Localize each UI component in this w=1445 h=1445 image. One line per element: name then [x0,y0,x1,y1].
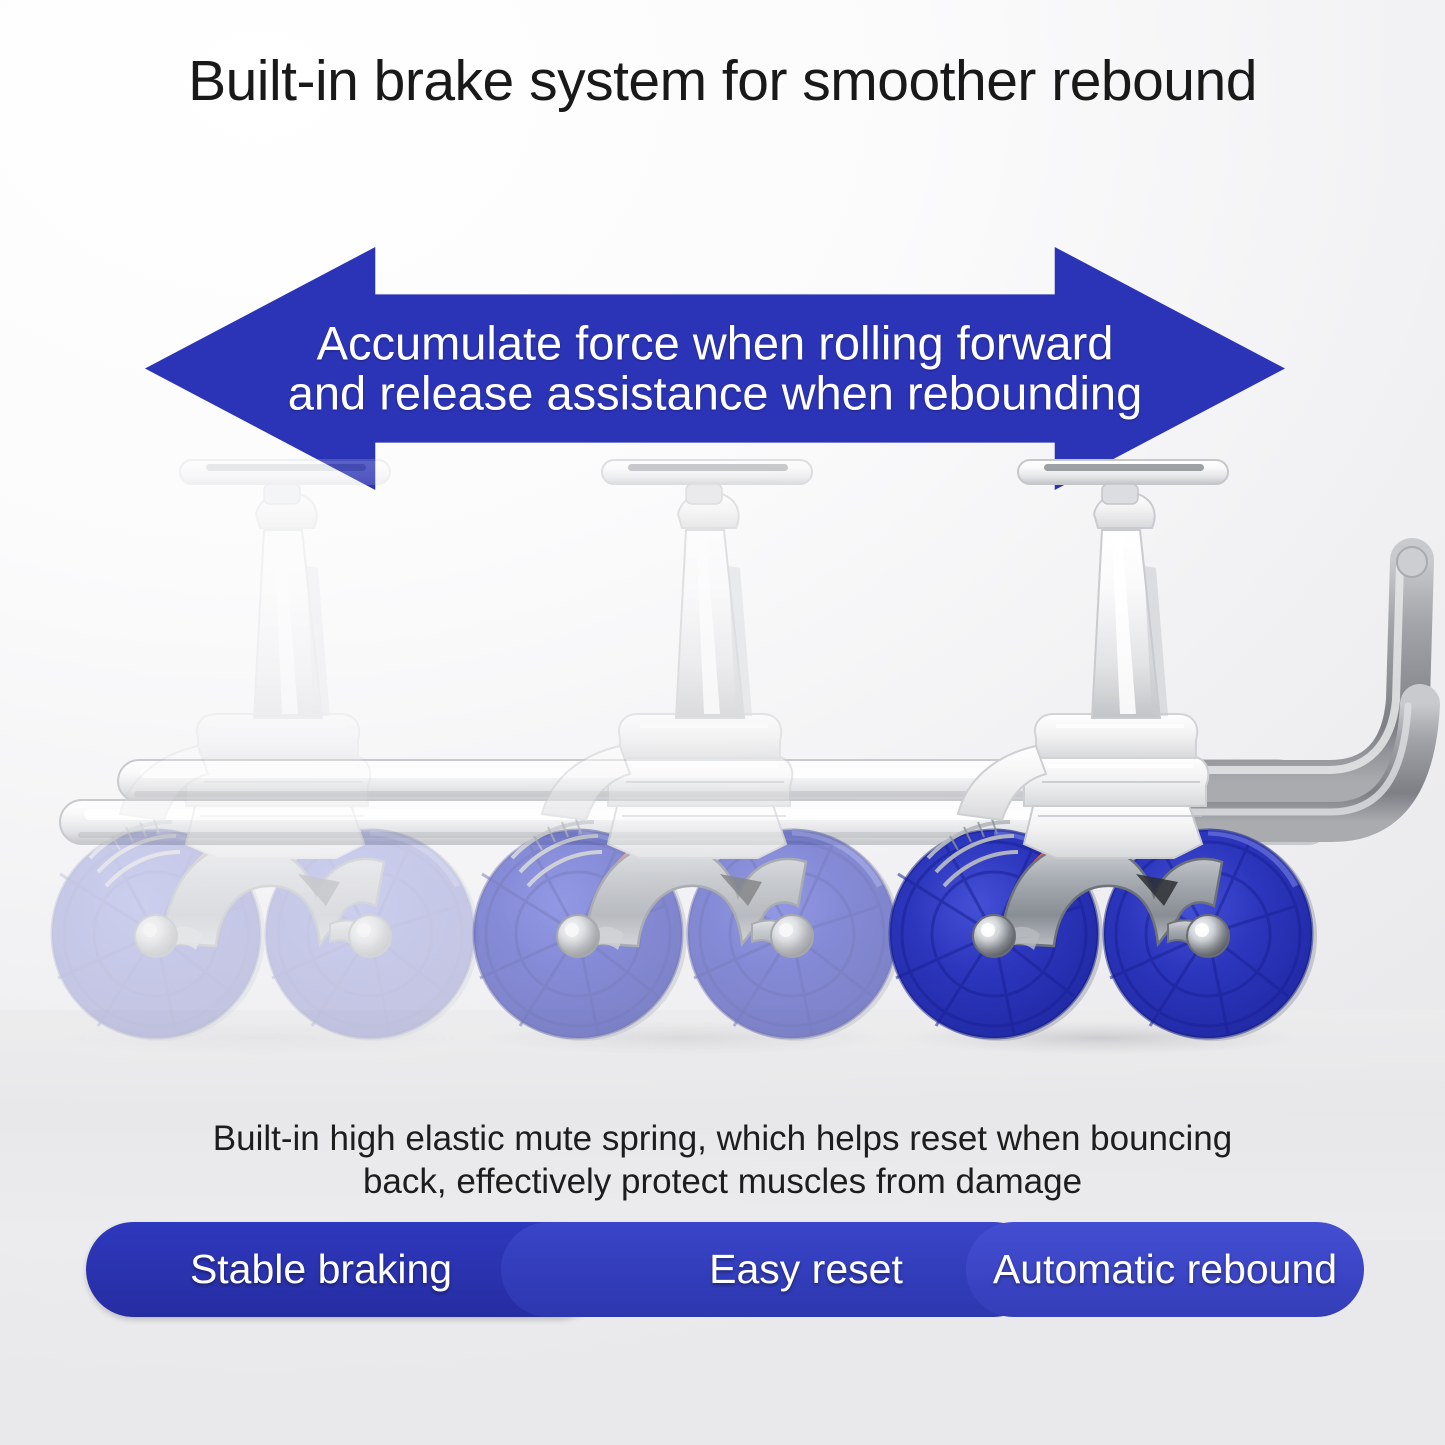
roller-position-3-solid [890,460,1317,1055]
feature-pill-label: Automatic rebound [993,1246,1337,1293]
product-feature-image: Built-in brake system for smoother rebou… [0,0,1445,1445]
handlebar-tube [1140,547,1427,822]
feature-pill-label: Easy reset [709,1246,903,1293]
arrow-caption: Accumulate force when rolling forward an… [145,318,1285,420]
feature-pill-group: Stable braking Easy reset Automatic rebo… [86,1222,1364,1317]
roller-position-2-ghost [474,460,901,1055]
feature-pill-automatic-rebound[interactable]: Automatic rebound [966,1222,1364,1317]
frame-bar-lower [60,800,1330,844]
arrow-caption-line2: and release assistance when rebounding [205,369,1225,420]
frame-bar-upper [118,760,1298,802]
feature-pill-label: Stable braking [190,1246,452,1293]
caption-line2: back, effectively protect muscles from d… [170,1161,1275,1204]
roller-position-1-ghost [52,460,479,1055]
arrow-caption-line1: Accumulate force when rolling forward [205,318,1225,369]
bidirectional-arrow-banner: Accumulate force when rolling forward an… [145,247,1285,490]
feature-caption: Built-in high elastic mute spring, which… [170,1118,1275,1203]
feature-pill-easy-reset[interactable]: Easy reset [501,1222,1041,1317]
page-title: Built-in brake system for smoother rebou… [0,50,1445,113]
caption-line1: Built-in high elastic mute spring, which… [170,1118,1275,1161]
